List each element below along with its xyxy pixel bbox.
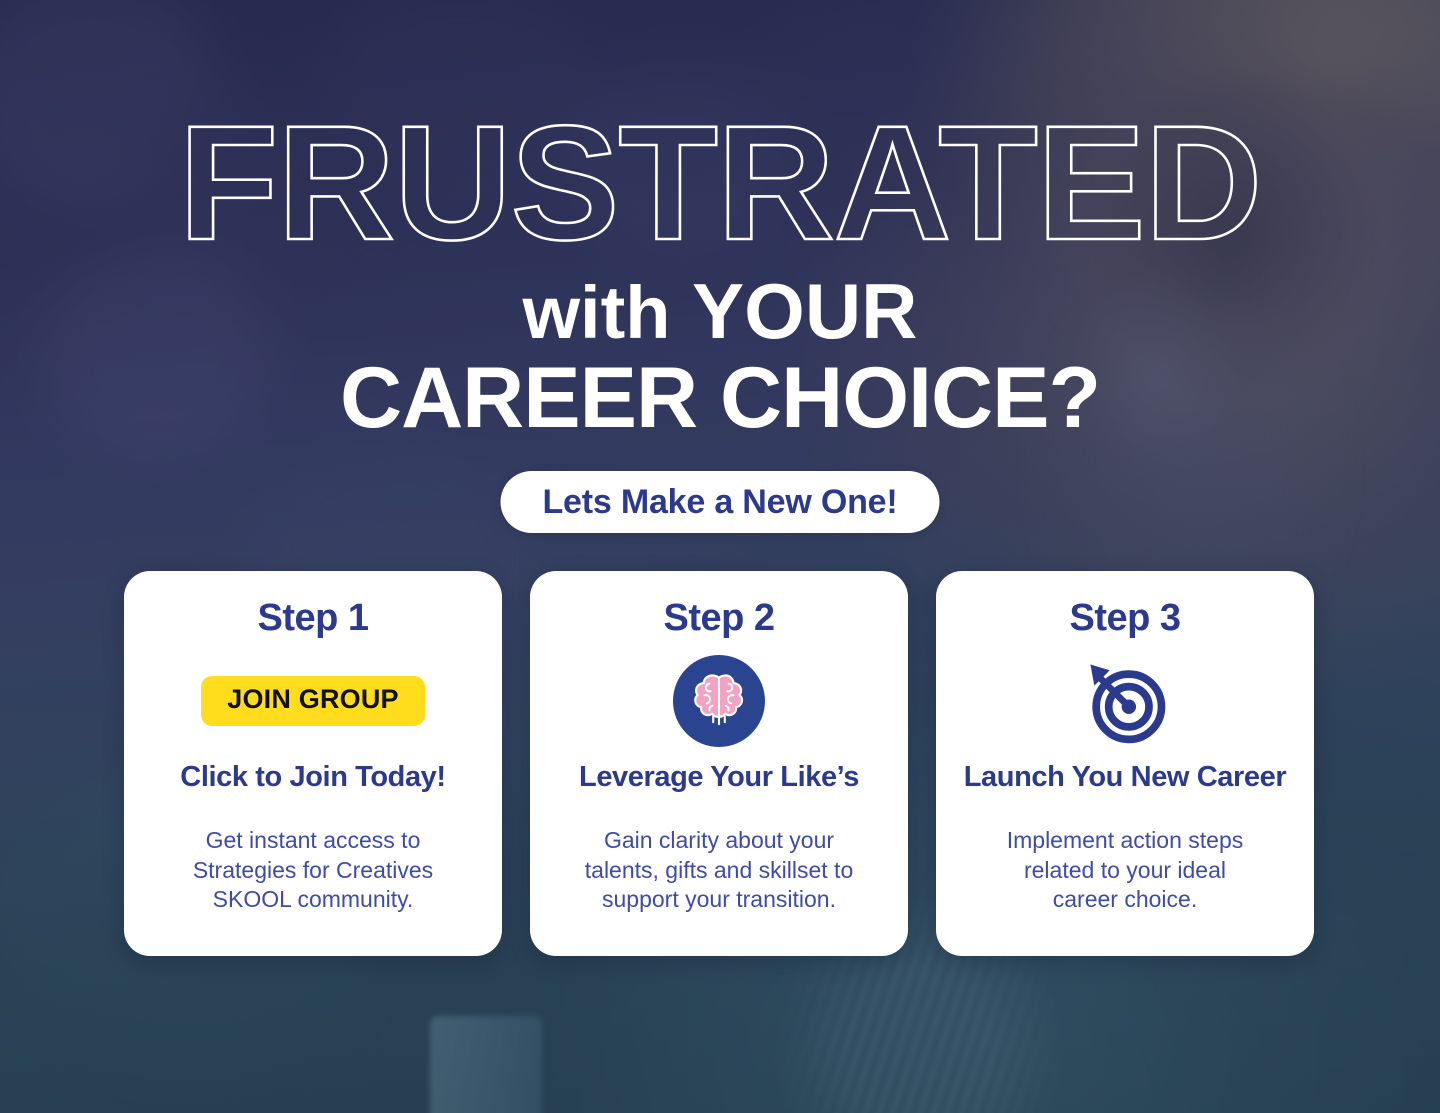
- headline-with-word: with: [523, 271, 671, 354]
- step-2-media: [673, 647, 765, 755]
- promo-banner: FRUSTRATED with YOUR CAREER CHOICE? Lets…: [0, 0, 1440, 1113]
- brain-icon: [673, 655, 765, 747]
- step-1-media: JOIN GROUP: [201, 647, 425, 755]
- step-3-media: [1077, 647, 1173, 755]
- step-3-body: Implement action steps related to your i…: [1007, 826, 1244, 914]
- subtitle-pill: Lets Make a New One!: [500, 471, 939, 533]
- step-2-body: Gain clarity about your talents, gifts a…: [585, 826, 853, 914]
- step-2-label: Step 2: [663, 599, 774, 639]
- step-1-title: Click to Join Today!: [180, 761, 445, 794]
- headline-second-line: with YOUR: [215, 272, 1225, 350]
- headline-third-line: CAREER CHOICE?: [170, 355, 1270, 441]
- step-2-title: Leverage Your Like’s: [579, 761, 859, 794]
- target-arrow-icon: [1077, 653, 1173, 749]
- step-card-1: Step 1 JOIN GROUP Click to Join Today! G…: [124, 571, 502, 956]
- headline-your-word: YOUR: [692, 267, 917, 355]
- step-card-2: Step 2: [530, 571, 908, 956]
- step-1-label: Step 1: [257, 599, 368, 639]
- step-3-label: Step 3: [1069, 599, 1180, 639]
- step-1-body: Get instant access to Strategies for Cre…: [193, 826, 433, 914]
- step-card-3: Step 3 Launch You New Career Implement a…: [936, 571, 1314, 956]
- headline-outline-text: FRUSTRATED: [179, 108, 1262, 258]
- step-3-title: Launch You New Career: [964, 761, 1287, 794]
- join-group-button[interactable]: JOIN GROUP: [201, 676, 425, 726]
- steps-row: Step 1 JOIN GROUP Click to Join Today! G…: [124, 571, 1316, 956]
